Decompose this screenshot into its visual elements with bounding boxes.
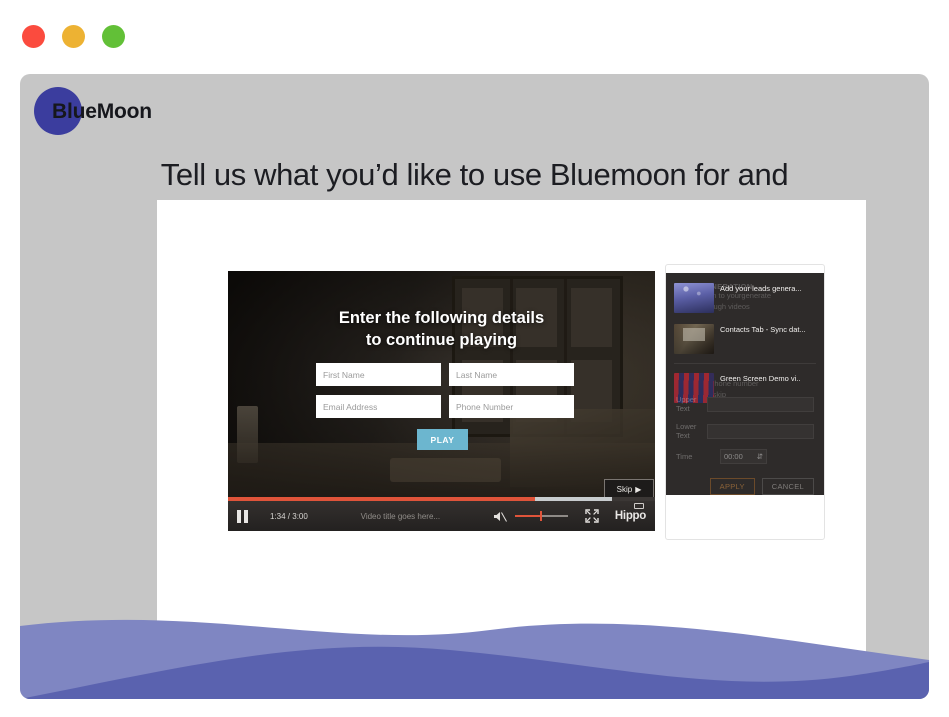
page-heading: Tell us what you’d like to use Bluemoon … [20,157,929,193]
app-window: BlueMoon Tell us what you’d like to use … [0,0,949,717]
gate-title-line2: to continue playing [228,330,655,352]
video-player[interactable]: Enter the following details to continue … [228,271,655,531]
lead-gate-form: PLAY [316,363,569,450]
window-titlebar [0,0,949,74]
email-input[interactable] [316,395,441,418]
apply-button[interactable]: APPLY [710,478,755,495]
list-item[interactable]: Add your leads genera... [666,281,824,315]
lead-gate-overlay: Enter the following details to continue … [228,271,655,531]
first-name-input[interactable] [316,363,441,386]
side-panel-dark-area: LEAD GENERATION ...omer form to yourgene… [666,273,824,495]
gate-form-row [316,395,569,418]
minimize-button[interactable] [62,25,85,48]
decorative-waves [20,584,929,699]
time-row: Time 00:00 ⇵ [676,449,814,464]
upper-text-row: Upper Text [676,395,814,413]
pause-icon[interactable] [237,510,250,523]
volume-fill [515,515,540,517]
window-controls [22,25,125,48]
volume-slider[interactable] [515,511,568,521]
player-brand-label: Hippo [615,510,646,522]
last-name-input[interactable] [449,363,574,386]
volume-knob[interactable] [540,511,542,521]
gate-title: Enter the following details to continue … [228,308,655,352]
concert-thumb [674,283,714,313]
time-display: 1:34 / 3:00 [270,512,308,521]
list-item-title: Add your leads genera... [720,283,816,293]
list-item[interactable]: Contacts Tab - Sync dat... [666,322,824,356]
brand-name: BlueMoon [52,100,152,124]
gate-title-line1: Enter the following details [228,308,655,330]
upper-text-label: Upper Text [676,395,707,413]
lower-text-input[interactable] [707,424,814,439]
play-button[interactable]: PLAY [417,429,468,450]
fullscreen-icon[interactable] [585,509,599,523]
time-value: 00:00 [724,452,743,461]
lower-text-row: Lower Text [676,422,814,440]
close-button[interactable] [22,25,45,48]
player-brand-logo[interactable]: Hippo [615,510,646,522]
room-thumb [674,324,714,354]
overlay-settings-form: Upper Text Lower Text Time 00:00 ⇵ [666,395,824,495]
video-title-label: Video title goes here... [308,512,493,521]
updown-stepper-icon[interactable]: ⇵ [757,452,763,461]
page-canvas: BlueMoon Tell us what you’d like to use … [20,74,929,699]
video-control-bar: 1:34 / 3:00 Video title goes here... [228,501,655,531]
time-stepper[interactable]: 00:00 ⇵ [720,449,767,464]
list-item-title: Contacts Tab - Sync dat... [720,324,816,334]
cancel-button[interactable]: CANCEL [762,478,814,495]
phone-input[interactable] [449,395,574,418]
time-label: Time [676,452,720,461]
gate-form-row [316,363,569,386]
form-actions: APPLY CANCEL [676,478,814,495]
maximize-button[interactable] [102,25,125,48]
lower-text-label: Lower Text [676,422,707,440]
list-item-title: Green Screen Demo vi.. [720,373,816,383]
skip-label: Skip [617,485,633,494]
upper-text-input[interactable] [707,397,814,412]
list-divider [674,363,816,364]
play-triangle-icon: ▶ [635,485,641,494]
video-list: Add your leads genera... Contacts Tab - … [666,281,824,412]
side-panel-card: LEAD GENERATION ...omer form to yourgene… [665,264,825,540]
volume-muted-icon[interactable] [493,510,507,523]
brand-logo[interactable]: BlueMoon [34,87,152,137]
video-camera-icon [634,503,644,509]
